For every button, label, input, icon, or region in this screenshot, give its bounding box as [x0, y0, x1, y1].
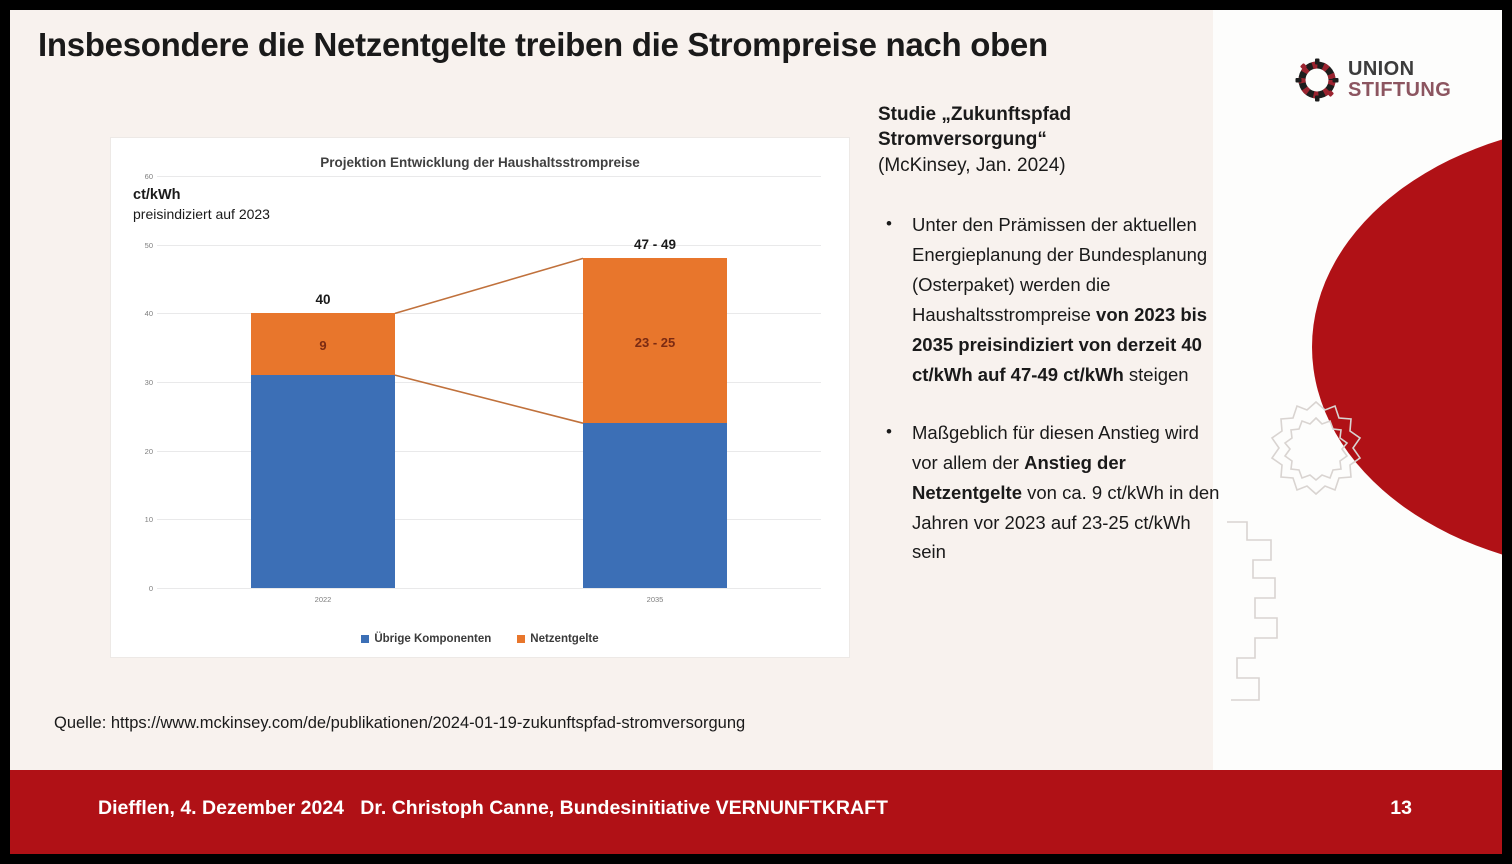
bullet-1-part-3: steigen	[1124, 364, 1189, 385]
legend-item-netzentgelte[interactable]: Netzentgelte	[517, 633, 598, 645]
connector-bottom	[395, 375, 583, 423]
gear-ring-icon	[1295, 58, 1339, 102]
bullet-list: Unter den Prämissen der aktuellen Energi…	[878, 210, 1223, 568]
decorative-right-panel	[1213, 10, 1502, 770]
logo-line-stiftung: STIFTUNG	[1348, 80, 1451, 101]
study-heading-bold: Studie „Zukunftspfad Stromversorgung“	[878, 104, 1071, 150]
legend-swatch-blue	[361, 635, 369, 643]
chart-card: Projektion Entwicklung der Haushaltsstro…	[110, 137, 850, 658]
legend-label-uebrige-komponenten: Übrige Komponenten	[374, 633, 491, 645]
chart-plot-area: 0102030405060940202223 - 2547 - 492035	[135, 176, 827, 610]
chart-title: Projektion Entwicklung der Haushaltsstro…	[111, 155, 849, 170]
chart-legend: Übrige Komponenten Netzentgelte	[111, 633, 849, 645]
bullet-item-2: Maßgeblich für diesen Anstieg wird vor a…	[878, 418, 1223, 568]
connector-lines	[135, 176, 827, 610]
bullet-item-1: Unter den Prämissen der aktuellen Energi…	[878, 210, 1223, 390]
connector-top	[395, 258, 583, 313]
star-gear-outline-icon	[1261, 394, 1371, 504]
slide: Insbesondere die Netzentgelte treiben di…	[10, 10, 1502, 854]
study-heading-normal: (McKinsey, Jan. 2024)	[878, 155, 1066, 176]
text-column: Studie „Zukunftspfad Stromversorgung“ (M…	[878, 102, 1223, 595]
red-lens-shape	[1312, 122, 1502, 572]
logo-line-union: UNION	[1348, 59, 1451, 80]
page-number: 13	[1390, 797, 1412, 820]
study-heading: Studie „Zukunftspfad Stromversorgung“ (M…	[878, 102, 1223, 178]
footer-text: Diefflen, 4. Dezember 2024 Dr. Christoph…	[98, 797, 888, 820]
legend-item-uebrige-komponenten[interactable]: Übrige Komponenten	[361, 633, 491, 645]
union-stiftung-logo: UNION STIFTUNG	[1295, 58, 1451, 102]
legend-swatch-orange	[517, 635, 525, 643]
zigzag-outline-icon	[1225, 518, 1295, 708]
source-line: Quelle: https://www.mckinsey.com/de/publ…	[54, 714, 745, 733]
footer-bar: Diefflen, 4. Dezember 2024 Dr. Christoph…	[10, 770, 1502, 854]
legend-label-netzentgelte: Netzentgelte	[530, 633, 598, 645]
page-title: Insbesondere die Netzentgelte treiben di…	[38, 26, 1198, 64]
